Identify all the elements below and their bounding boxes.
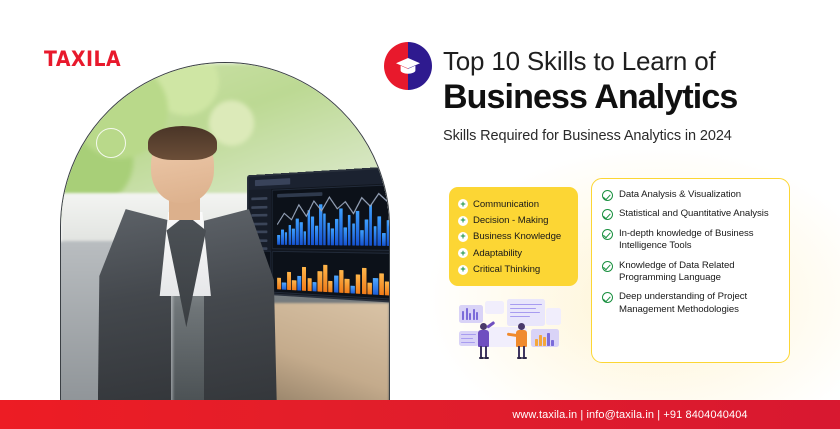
hard-skill-label: Deep understanding of Project Management… — [619, 291, 778, 316]
person-jacket-right — [204, 209, 277, 406]
check-circle-icon — [602, 209, 613, 220]
list-item: Statistical and Quantitative Analysis — [602, 208, 778, 220]
page-title-line1: Top 10 Skills to Learn of — [443, 46, 716, 77]
soft-skill-label: Adaptability — [473, 248, 522, 259]
list-item: Knowledge of Data Related Programming La… — [602, 260, 778, 285]
page-subtitle: Skills Required for Business Analytics i… — [443, 128, 732, 144]
hero-photo-inner — [61, 63, 389, 406]
person-hair — [148, 126, 217, 160]
soft-skill-label: Decision - Making — [473, 215, 548, 226]
hard-skill-label: Data Analysis & Visualization — [619, 189, 741, 201]
list-item: Deep understanding of Project Management… — [602, 291, 778, 316]
plus-icon: + — [458, 265, 468, 275]
list-item: In-depth knowledge of Business Intellige… — [602, 228, 778, 253]
soft-skill-label: Communication — [473, 199, 539, 210]
promo-banner: TAXILA — [0, 0, 840, 429]
hard-skill-label: Knowledge of Data Related Programming La… — [619, 260, 778, 285]
page-title-line2: Business Analytics — [443, 78, 737, 117]
check-circle-icon — [602, 190, 613, 201]
two-people-presenting-charts-illustration — [459, 299, 563, 361]
footer-bar: www.taxila.in | info@taxila.in | +91 840… — [0, 400, 840, 429]
photo-person — [94, 125, 297, 406]
footer-contact-text[interactable]: www.taxila.in | info@taxila.in | +91 840… — [0, 400, 840, 429]
list-item: + Business Knowledge — [458, 229, 570, 245]
list-item: + Decision - Making — [458, 212, 570, 228]
plus-icon: + — [458, 199, 468, 209]
soft-skills-card: + Communication + Decision - Making + Bu… — [449, 187, 578, 286]
list-item: Data Analysis & Visualization — [602, 189, 778, 201]
plus-icon: + — [458, 232, 468, 242]
soft-skill-label: Critical Thinking — [473, 264, 540, 275]
soft-skill-label: Business Knowledge — [473, 231, 561, 242]
person-jacket-left — [98, 209, 171, 406]
list-item: + Adaptability — [458, 245, 570, 261]
check-circle-icon — [602, 229, 613, 240]
check-circle-icon — [602, 261, 613, 272]
plus-icon: + — [458, 216, 468, 226]
hard-skill-label: In-depth knowledge of Business Intellige… — [619, 228, 778, 253]
graduation-cap-icon — [384, 42, 432, 90]
check-circle-icon — [602, 292, 613, 303]
list-item: + Critical Thinking — [458, 262, 570, 278]
hard-skills-card: Data Analysis & Visualization Statistica… — [591, 178, 790, 363]
hero-photo — [60, 62, 390, 407]
hard-skill-label: Statistical and Quantitative Analysis — [619, 208, 769, 220]
list-item: + Communication — [458, 196, 570, 212]
plus-icon: + — [458, 248, 468, 258]
